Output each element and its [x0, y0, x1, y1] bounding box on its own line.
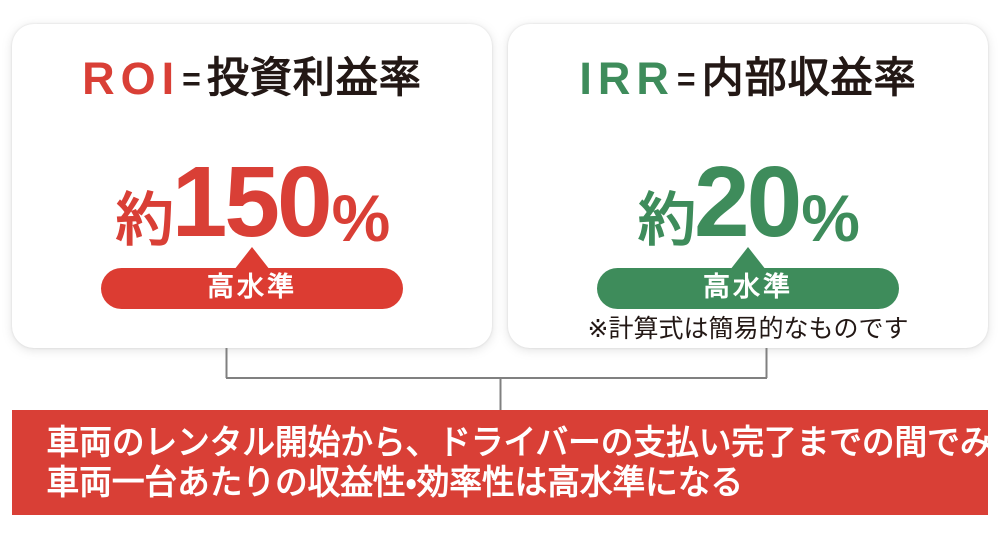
triangle-pointer-icon [234, 247, 270, 270]
metric-cards-row: ROI=投資利益率 約150% 高水準 IRR=内部収益率 約20% [0, 0, 1000, 400]
figure-unit-roi: % [332, 185, 391, 251]
metric-card-roi: ROI=投資利益率 約150% 高水準 [12, 24, 492, 348]
metric-figure-roi: 約150% [12, 132, 492, 252]
card-heading-irr: IRR=内部収益率 [508, 56, 988, 101]
footnote-irr: ※計算式は簡易的なものです [508, 316, 988, 344]
card-heading-roi: ROI=投資利益率 [12, 56, 492, 101]
triangle-pointer-icon [730, 247, 766, 270]
status-badge-label-irr: 高水準 [703, 274, 793, 301]
figure-approx-irr: 約 [638, 192, 694, 250]
figure-approx-roi: 約 [116, 192, 172, 250]
equals-sign-roi: = [182, 61, 201, 97]
status-badge-irr: 高水準 [597, 268, 899, 309]
banner-line-1: 車両のレンタル開始から、ドライバーの支払い完了までの間でみた [12, 423, 949, 463]
pill-wrapper-roi: 高水準 [12, 268, 492, 309]
metric-term-irr: 内部収益率 [702, 54, 917, 101]
status-badge-roi: 高水準 [101, 268, 403, 309]
equals-sign-irr: = [677, 61, 696, 97]
infographic-root: ROI=投資利益率 約150% 高水準 IRR=内部収益率 約20% [0, 0, 1000, 543]
banner-line-2: 車両一台あたりの収益性・効率性は高水準になる [12, 463, 949, 503]
figure-number-roi: 150 [172, 152, 330, 252]
figure-number-irr: 20 [694, 152, 799, 252]
conclusion-banner: 車両のレンタル開始から、ドライバーの支払い完了までの間でみた 車両一台あたりの収… [12, 410, 988, 515]
metric-code-irr: IRR [579, 53, 675, 104]
metric-term-roi: 投資利益率 [207, 54, 422, 101]
metric-code-roi: ROI [82, 53, 180, 104]
figure-unit-irr: % [801, 185, 860, 251]
status-badge-label-roi: 高水準 [207, 274, 297, 301]
metric-figure-irr: 約20% [508, 132, 988, 252]
pill-wrapper-irr: 高水準 [508, 268, 988, 309]
metric-card-irr: IRR=内部収益率 約20% 高水準 ※計算式は簡易的なものです [508, 24, 988, 348]
